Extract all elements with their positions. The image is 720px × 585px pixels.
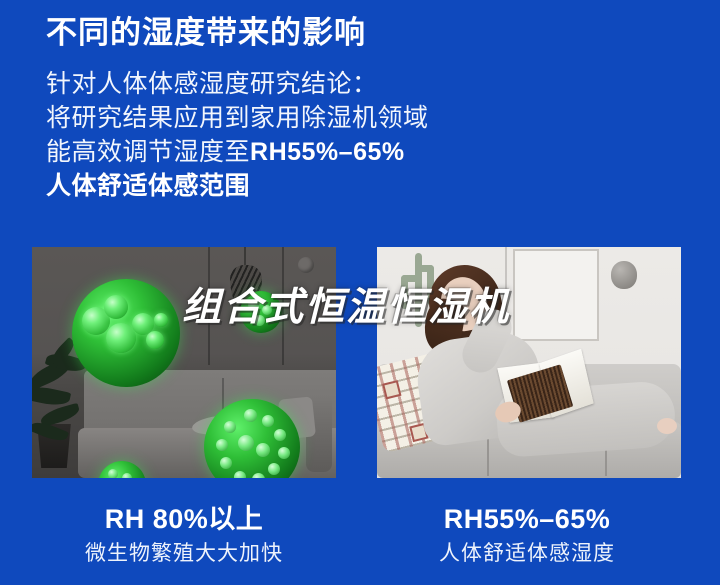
- intro-line-3: 能高效调节湿度至RH55%–65%: [46, 135, 666, 169]
- photo-panel-high-humidity: [32, 247, 336, 478]
- microbe-cluster-large: [72, 279, 180, 387]
- page-title: 不同的湿度带来的影响: [46, 14, 666, 53]
- person-foot: [657, 418, 677, 434]
- wall-seam-icon: [282, 247, 284, 365]
- caption-high-humidity: RH 80%以上 微生物繁殖大大加快: [19, 504, 349, 566]
- promo-slide: 不同的湿度带来的影响 针对人体体感湿度研究结论： 将研究结果应用到家用除湿机领域…: [0, 0, 720, 585]
- caption-left-subtext: 微生物繁殖大大加快: [19, 541, 349, 566]
- humidity-range-highlight: RH55%–65%: [250, 138, 405, 166]
- wall-speaker-icon: [611, 261, 637, 289]
- intro-paragraph: 针对人体体感湿度研究结论： 将研究结果应用到家用除湿机领域 能高效调节湿度至RH…: [46, 67, 666, 203]
- caption-right-heading: RH55%–65%: [362, 504, 692, 536]
- dark-room-illustration: [32, 247, 336, 478]
- plant-leaf-icon: [32, 383, 71, 408]
- caption-right-subtext: 人体舒适体感湿度: [362, 541, 692, 566]
- wall-art-frame-icon: [513, 249, 599, 341]
- intro-line-3-prefix: 能高效调节湿度至: [46, 138, 250, 166]
- microbe-cluster-medium: [240, 291, 282, 333]
- caption-comfort-humidity: RH55%–65% 人体舒适体感湿度: [362, 504, 692, 566]
- caption-left-heading: RH 80%以上: [19, 504, 349, 536]
- bright-room-illustration: [377, 247, 681, 478]
- intro-line-1: 针对人体体感湿度研究结论：: [46, 67, 666, 101]
- intro-line-4: 人体舒适体感范围: [46, 169, 666, 203]
- photo-panel-comfort-humidity: [377, 247, 681, 478]
- wall-knob-icon: [298, 257, 314, 273]
- intro-line-2: 将研究结果应用到家用除湿机领域: [46, 101, 666, 135]
- header-block: 不同的湿度带来的影响 针对人体体感湿度研究结论： 将研究结果应用到家用除湿机领域…: [46, 14, 666, 203]
- wall-seam-icon: [208, 247, 210, 365]
